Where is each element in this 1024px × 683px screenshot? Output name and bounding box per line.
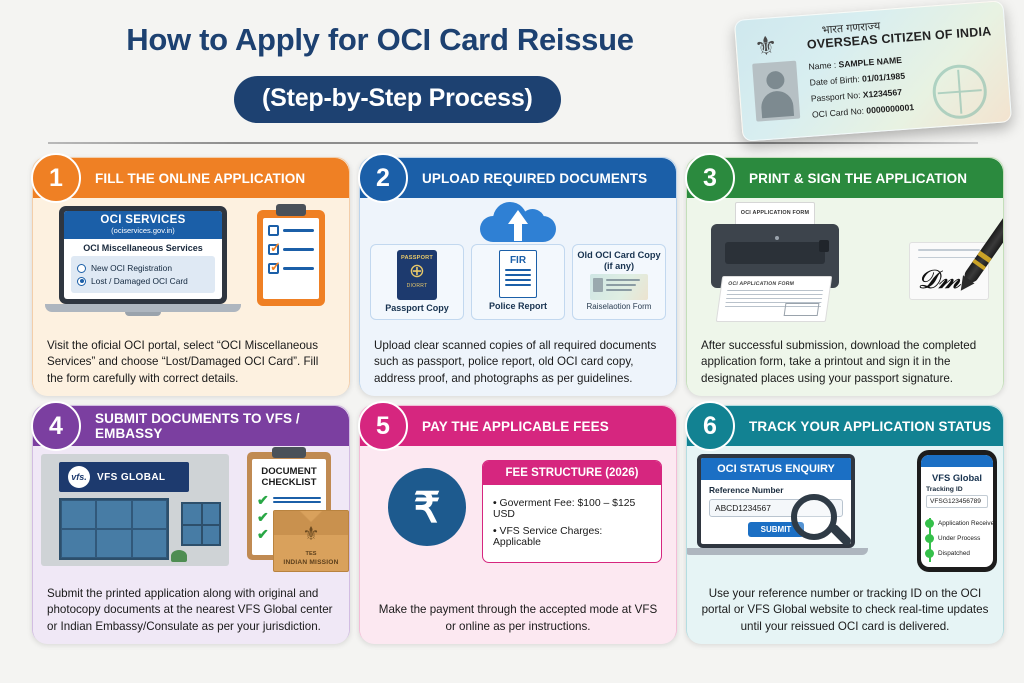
step-3-title: PRINT & SIGN THE APPLICATION (749, 171, 975, 186)
bush-icon (171, 550, 187, 562)
step-4-caption: Submit the printed application along wit… (33, 581, 349, 644)
step-5-header: 5 PAY THE APPLICABLE FEES (360, 406, 676, 446)
oci-card-sample: ⚜ भारत गणराज्य OVERSEAS CITIZEN OF INDIA… (734, 0, 1012, 141)
step-6-title: TRACK YOUR APPLICATION STATUS (749, 419, 999, 434)
printed-application-form: OCI APPLICATION FORM (716, 276, 832, 322)
building-window (181, 502, 221, 546)
step-6-visual: OCI STATUS ENQUIRY Reference Number ABCD… (687, 446, 1003, 574)
step-3-visual: OCI APPLICATION FORM OCI APPLICATION FOR… (687, 198, 1003, 326)
timeline-step-received: Application Received (925, 519, 989, 528)
document-tile-old-oci: Old OCI Card Copy (if any) Raiselaotion … (572, 244, 666, 320)
checkbox-checked-icon (268, 263, 279, 274)
rupee-icon: ₹ (388, 468, 466, 546)
step-4-header: 4 SUBMIT DOCUMENTS TO VFS / EMBASSY (33, 406, 349, 446)
radio-label: Lost / Damaged OCI Card (91, 276, 188, 286)
step-5-visual: ₹ FEE STRUCTURE (2026) Goverment Fee: $1… (360, 446, 676, 574)
status-label: Under Process (938, 535, 980, 542)
document-tile-label: Raiselaotion Form (576, 302, 662, 311)
laptop-foot (125, 312, 161, 316)
vfs-sign-text: VFS GLOBAL (97, 472, 165, 483)
step-4-number: 4 (31, 401, 81, 451)
signature-icon: 𝓓𝓶 (918, 265, 961, 296)
status-dot-icon (925, 549, 934, 558)
oci-card-field-number: OCI Card No: 0000000001 (812, 102, 915, 119)
step-card-4: 4 SUBMIT DOCUMENTS TO VFS / EMBASSY vfs.… (32, 405, 350, 643)
step-1-title: FILL THE ONLINE APPLICATION (95, 171, 313, 186)
radio-option-lost-damaged[interactable]: Lost / Damaged OCI Card (77, 276, 209, 286)
step-card-5: 5 PAY THE APPLICABLE FEES ₹ FEE STRUCTUR… (359, 405, 677, 643)
tracking-timeline: Application Received Under Process Dispa… (921, 508, 993, 558)
vfs-logo-icon: vfs. (68, 466, 90, 488)
step-2-number: 2 (358, 153, 408, 203)
passport-bottom-text: DIORRT (397, 283, 437, 289)
vfs-mobile-app: VFS Global Tracking ID VFSG123456789 App… (917, 450, 997, 572)
checkbox-icon (268, 225, 279, 236)
oci-field-value: X1234567 (862, 87, 902, 100)
passport-icon: PASSPORT ⊕ DIORRT (397, 250, 437, 300)
oci-field-value: 0000000001 (866, 102, 914, 115)
step-6-number: 6 (685, 401, 735, 451)
oci-card-photo (752, 61, 800, 122)
document-tile-label: Passport Copy (374, 303, 460, 313)
step-3-body: OCI APPLICATION FORM OCI APPLICATION FOR… (687, 198, 1003, 396)
laptop-screen: OCI SERVICES (ociservices.gov.in) OCI Mi… (59, 206, 227, 304)
fee-structure-box: FEE STRUCTURE (2026) Goverment Fee: $100… (482, 460, 662, 563)
india-emblem-icon: ⚜ (752, 28, 780, 64)
clipboard-clamp-icon (276, 204, 306, 216)
document-tile-police-report: FIR Police Report (471, 244, 565, 320)
step-6-caption: Use your reference number or tracking ID… (687, 581, 1003, 644)
fee-structure-heading: FEE STRUCTURE (2026) (483, 461, 661, 485)
step-4-body: vfs. VFS GLOBAL DOCUMENT CHECKLIST (33, 446, 349, 644)
envelope-line1: TES (274, 551, 348, 557)
step-card-2: 2 UPLOAD REQUIRED DOCUMENTS PASSPORT ⊕ (359, 157, 677, 395)
radio-icon[interactable] (77, 264, 86, 273)
phone-status-bar (921, 455, 993, 467)
checklist-title: DOCUMENT CHECKLIST (257, 467, 321, 488)
check-icon: ✔ (257, 529, 269, 539)
step-6-header: 6 TRACK YOUR APPLICATION STATUS (687, 406, 1003, 446)
status-enquiry-title: OCI STATUS ENQUIRY (701, 458, 851, 480)
oci-card-field-dob: Date of Birth: 01/01/1985 (809, 71, 905, 88)
page-subtitle-badge: (Step-by-Step Process) (234, 76, 561, 123)
india-emblem-icon: ⚜ (302, 525, 319, 545)
oci-card-field-passport: Passport No: X1234567 (810, 87, 902, 104)
step-card-3: 3 PRINT & SIGN THE APPLICATION OCI APPLI… (686, 157, 1004, 395)
radio-icon-selected[interactable] (77, 277, 86, 286)
fee-structure-list: Goverment Fee: $100 – $125 USD VFS Servi… (483, 485, 661, 562)
document-tile-passport: PASSPORT ⊕ DIORRT Passport Copy (370, 244, 464, 320)
envelope-line2: INDIAN MISSION (274, 559, 348, 566)
step-2-body: PASSPORT ⊕ DIORRT Passport Copy FIR (360, 198, 676, 396)
step-1-number: 1 (31, 153, 81, 203)
vfs-app-title: VFS Global (921, 467, 993, 486)
page-subtitle: (Step-by-Step Process) (262, 84, 533, 113)
fee-item: Goverment Fee: $100 – $125 USD (493, 498, 651, 520)
fir-document-icon: FIR (499, 250, 537, 298)
form-title-text: OCI APPLICATION FORM (728, 281, 825, 287)
check-icon: ✔ (257, 512, 269, 522)
portal-url: (ociservices.gov.in) (64, 226, 222, 235)
document-tile-label: Police Report (475, 301, 561, 311)
step-3-header: 3 PRINT & SIGN THE APPLICATION (687, 158, 1003, 198)
step-5-body: ₹ FEE STRUCTURE (2026) Goverment Fee: $1… (360, 446, 676, 644)
reference-number-label: Reference Number (701, 480, 851, 495)
building-glass-doors (59, 498, 169, 560)
clipboard-illustration (257, 210, 325, 306)
laptop-base (687, 548, 868, 555)
tracking-id-label: Tracking ID (921, 486, 993, 493)
oci-field-value: SAMPLE NAME (838, 55, 902, 70)
ashoka-chakra-icon (931, 63, 989, 121)
magnifier-icon (791, 494, 837, 540)
old-oci-card-icon (590, 274, 648, 300)
oci-field-value: 01/01/1985 (862, 71, 906, 84)
oci-card-field-name: Name : SAMPLE NAME (808, 55, 902, 72)
oci-field-label: Date of Birth: (809, 74, 860, 88)
indian-mission-envelope: ⚜ TES INDIAN MISSION (273, 510, 349, 572)
oci-field-label: Name : (808, 60, 836, 72)
vfs-building-illustration: vfs. VFS GLOBAL (41, 454, 229, 566)
vfs-signboard: vfs. VFS GLOBAL (59, 462, 189, 492)
timeline-step-dispatched: Dispatched (925, 549, 989, 558)
status-dot-icon (925, 534, 934, 543)
step-2-visual: PASSPORT ⊕ DIORRT Passport Copy FIR (360, 198, 676, 326)
checkbox-checked-icon (268, 244, 279, 255)
portal-section-title: OCI Miscellaneous Services (64, 239, 222, 256)
step-card-6: 6 TRACK YOUR APPLICATION STATUS OCI STAT… (686, 405, 1004, 643)
infographic-page: How to Apply for OCI Card Reissue (Step-… (0, 0, 1024, 683)
step-3-caption: After successful submission, download th… (687, 333, 1003, 396)
step-card-1: 1 FILL THE ONLINE APPLICATION OCI SERVIC… (32, 157, 350, 395)
step-1-body: OCI SERVICES (ociservices.gov.in) OCI Mi… (33, 198, 349, 396)
document-tile-heading: Old OCI Card Copy (if any) (576, 250, 662, 272)
oci-field-label: Passport No: (810, 90, 860, 104)
status-dot-icon (925, 519, 934, 528)
step-3-number: 3 (685, 153, 735, 203)
step-1-visual: OCI SERVICES (ociservices.gov.in) OCI Mi… (33, 198, 349, 326)
radio-label: New OCI Registration (91, 263, 172, 273)
globe-icon: ⊕ (397, 261, 437, 283)
header-divider (48, 142, 978, 144)
passport-top-text: PASSPORT (397, 250, 437, 261)
fee-item: VFS Service Charges: Applicable (493, 526, 651, 548)
step-2-title: UPLOAD REQUIRED DOCUMENTS (422, 171, 655, 186)
check-icon: ✔ (257, 495, 269, 505)
step-5-caption: Make the payment through the accepted mo… (360, 597, 676, 644)
step-4-visual: vfs. VFS GLOBAL DOCUMENT CHECKLIST (33, 446, 349, 574)
step-6-body: OCI STATUS ENQUIRY Reference Number ABCD… (687, 446, 1003, 644)
tracking-id-value[interactable]: VFSG123456789 (926, 495, 988, 508)
form-title-text: OCI APPLICATION FORM (736, 203, 814, 216)
step-4-title: SUBMIT DOCUMENTS TO VFS / EMBASSY (95, 411, 349, 441)
step-2-header: 2 UPLOAD REQUIRED DOCUMENTS (360, 158, 676, 198)
step-5-number: 5 (358, 401, 408, 451)
oci-field-label: OCI Card No: (812, 106, 865, 120)
portal-header: OCI SERVICES (ociservices.gov.in) (64, 211, 222, 239)
step-1-caption: Visit the oficial OCI portal, select “OC… (33, 333, 349, 396)
step-5-title: PAY THE APPLICABLE FEES (422, 419, 617, 434)
radio-option-new-registration[interactable]: New OCI Registration (77, 263, 209, 273)
step-2-caption: Upload clear scanned copies of all requi… (360, 333, 676, 396)
laptop-illustration: OCI SERVICES (ociservices.gov.in) OCI Mi… (59, 206, 227, 316)
page-title: How to Apply for OCI Card Reissue (60, 22, 700, 58)
step-1-header: 1 FILL THE ONLINE APPLICATION (33, 158, 349, 198)
steps-grid: 1 FILL THE ONLINE APPLICATION OCI SERVIC… (32, 157, 1004, 643)
signature-box (784, 303, 820, 316)
status-label: Application Received (938, 520, 993, 527)
document-tiles: PASSPORT ⊕ DIORRT Passport Copy FIR (370, 244, 666, 320)
laptop-base (45, 304, 241, 312)
status-label: Dispatched (938, 550, 970, 557)
clipboard-clamp-icon (272, 447, 306, 458)
portal-options-group[interactable]: New OCI Registration Lost / Damaged OCI … (71, 256, 215, 293)
cloud-upload-icon (480, 202, 556, 242)
portal-title: OCI SERVICES (64, 214, 222, 226)
fir-text: FIR (500, 251, 536, 266)
timeline-step-processing: Under Process (925, 534, 989, 543)
